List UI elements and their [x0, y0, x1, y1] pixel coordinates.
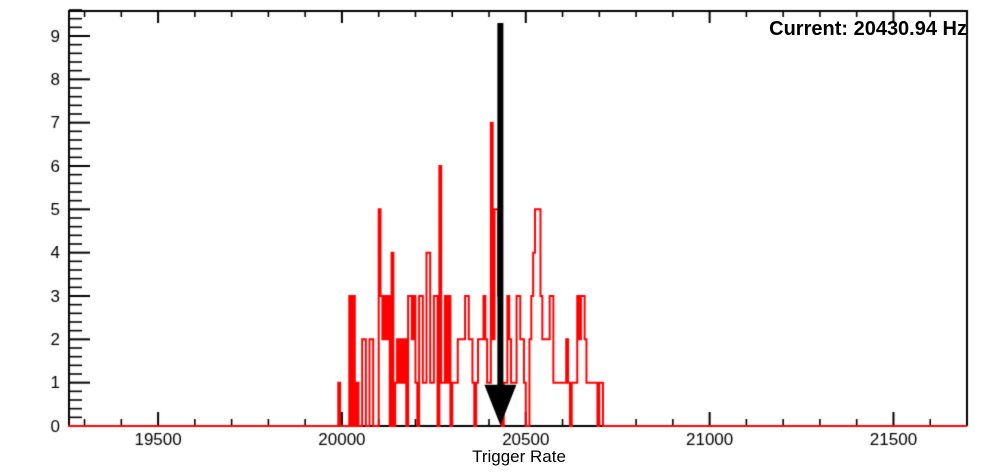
histogram-plot-root: Current: 20430.94 Hz Trigger Rate: [0, 0, 996, 472]
x-axis-title: Trigger Rate: [21, 447, 996, 467]
current-rate-readout: Current: 20430.94 Hz: [769, 18, 967, 41]
trigger-rate-histogram-canvas: [0, 0, 996, 472]
